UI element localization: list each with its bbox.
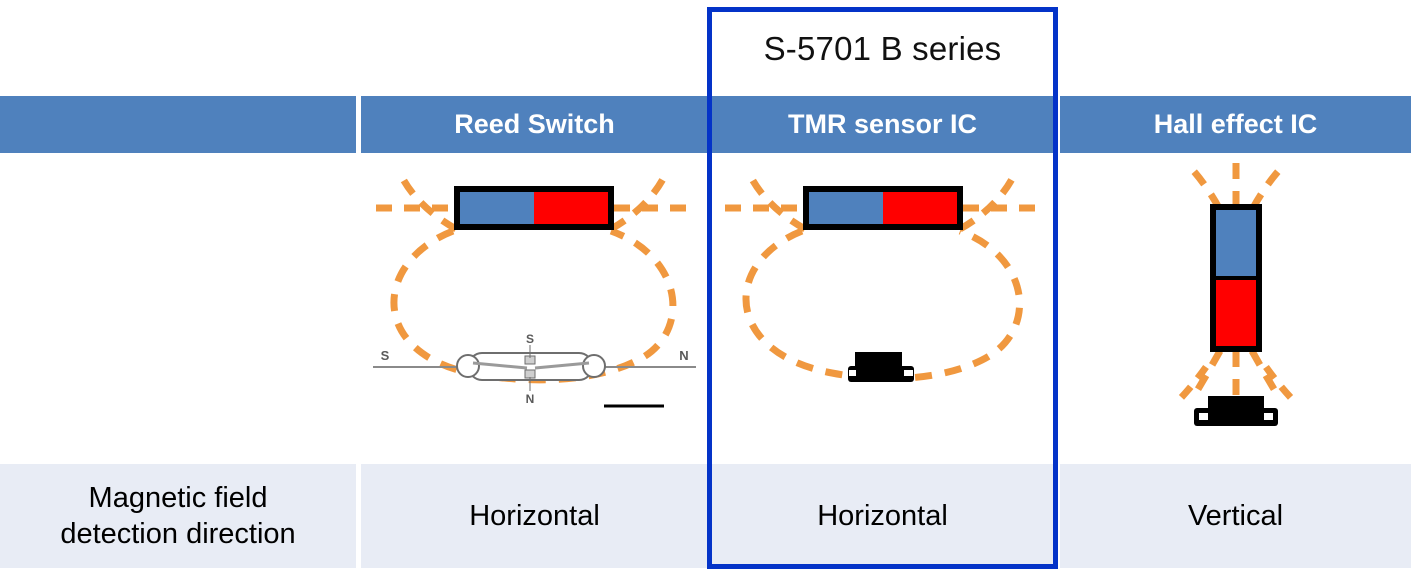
tmr-ic-package — [848, 352, 914, 382]
bar-magnet-horizontal — [803, 186, 963, 230]
row-label-magnetic-field-detection-direction: Magnetic field detection direction — [0, 464, 356, 568]
table-header-row: Reed Switch TMR sensor IC Hall effect IC — [0, 96, 1411, 153]
comparison-table-figure: S N S N — [0, 0, 1411, 582]
reed-contact-label-n: N — [526, 392, 535, 406]
table-body-row: Magnetic field detection direction Horiz… — [0, 464, 1411, 568]
figure-row: S N S N — [0, 153, 1411, 464]
column-header-tmr-sensor-ic: TMR sensor IC — [712, 96, 1053, 153]
cell-tmr-sensor-ic-direction: Horizontal — [712, 464, 1053, 568]
row-label-text: Magnetic field detection direction — [60, 480, 295, 553]
figure-cell-empty — [0, 153, 356, 464]
reed-pole-label-n: N — [679, 348, 688, 363]
reed-contact-label-s: S — [526, 332, 534, 346]
column-header-hall-effect-ic: Hall effect IC — [1060, 96, 1411, 153]
callout-title: S-5701 B series — [712, 30, 1053, 68]
reed-switch-component: S N S N — [373, 332, 696, 406]
column-header-blank — [0, 96, 356, 153]
cell-hall-effect-ic-direction: Vertical — [1060, 464, 1411, 568]
reed-switch-diagram: S N S N — [361, 153, 708, 464]
figure-cell-reed-switch: S N S N — [361, 153, 708, 464]
column-header-reed-switch: Reed Switch — [361, 96, 708, 153]
figure-cell-tmr-sensor-ic — [712, 153, 1053, 464]
bar-magnet-horizontal — [454, 186, 614, 230]
bar-magnet-vertical — [1210, 204, 1262, 352]
reed-pole-label-s: S — [381, 348, 390, 363]
hall-effect-diagram — [1060, 153, 1411, 464]
figure-cell-hall-effect-ic — [1060, 153, 1411, 464]
tmr-sensor-diagram — [712, 153, 1053, 464]
hall-ic-package — [1194, 396, 1278, 426]
cell-reed-switch-direction: Horizontal — [361, 464, 708, 568]
